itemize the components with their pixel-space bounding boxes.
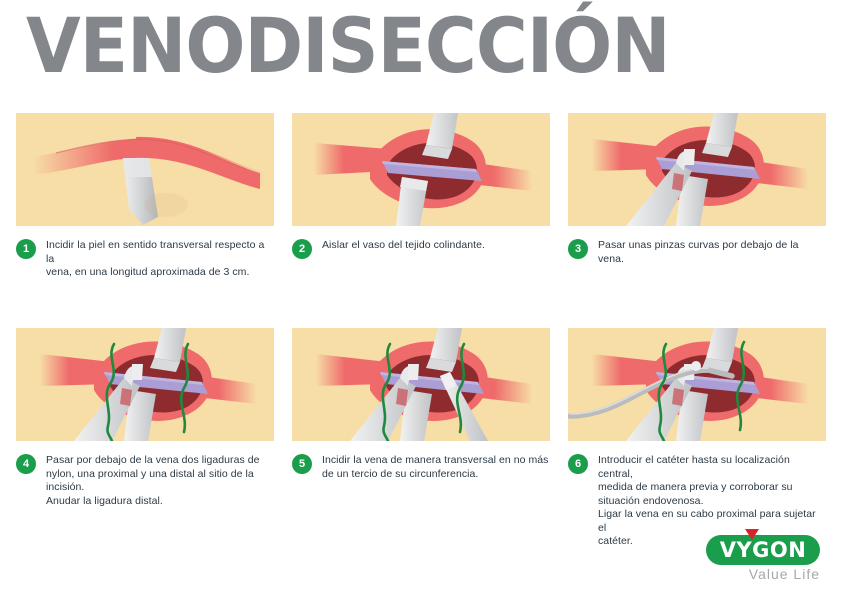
illustration-panel-6: [568, 328, 826, 441]
step-caption-1: 1 Incidir la piel en sentido transversal…: [16, 239, 274, 280]
page-title: VENODISECCIÓN: [26, 6, 670, 86]
catheter-hub: [691, 361, 701, 371]
step-number-badge-2: 2: [292, 239, 312, 259]
step-caption-2: 2 Aislar el vaso del tejido colindante.: [292, 239, 550, 267]
step-number-badge-4: 4: [16, 454, 36, 474]
forceps-jaw: [408, 364, 419, 380]
step-card-2: 2 Aislar el vaso del tejido colindante.: [292, 113, 550, 267]
caption-line: nylon, una proximal y una distal al siti…: [46, 468, 274, 482]
illustration-panel-2: [292, 113, 550, 226]
caption-line: de un tercio de su circunferencia.: [322, 468, 550, 482]
step-text-5: Incidir la vena de manera transversal en…: [322, 454, 550, 481]
step-text-3: Pasar unas pinzas curvas por debajo de l…: [598, 239, 826, 266]
caption-line: vena, en una longitud aproximada de 3 cm…: [46, 266, 274, 280]
vygon-logo: VYGON Value Life: [706, 529, 826, 587]
step-card-3: 3 Pasar unas pinzas curvas por debajo de…: [568, 113, 826, 267]
step-number-badge-5: 5: [292, 454, 312, 474]
caption-line: Pasar por debajo de la vena dos ligadura…: [46, 454, 274, 468]
illustration-panel-5: [292, 328, 550, 441]
logo-tagline: Value Life: [706, 566, 824, 582]
logo-brand-text: VYGON: [706, 535, 820, 565]
step-caption-5: 5 Incidir la vena de manera transversal …: [292, 454, 550, 482]
caption-line: medida de manera previa y corroborar su: [598, 481, 826, 495]
step-card-6: 6 Introducir el catéter hasta su localiz…: [568, 328, 826, 549]
step-caption-3: 3 Pasar unas pinzas curvas por debajo de…: [568, 239, 826, 267]
caption-line: incisión.: [46, 481, 274, 495]
step-text-4: Pasar por debajo de la vena dos ligadura…: [46, 454, 274, 508]
step-card-4: 4 Pasar por debajo de la vena dos ligadu…: [16, 328, 274, 508]
red-triangle-icon: [745, 529, 759, 540]
shadow: [144, 193, 188, 217]
forceps-shadow-tissue: [396, 388, 408, 406]
caption-line: Incidir la vena de manera transversal en…: [322, 454, 550, 468]
forceps-jaw: [684, 149, 695, 165]
step-card-1: 1 Incidir la piel en sentido transversal…: [16, 113, 274, 280]
step-card-5: 5 Incidir la vena de manera transversal …: [292, 328, 550, 482]
step-text-1: Incidir la piel en sentido transversal r…: [46, 239, 274, 280]
step-text-2: Aislar el vaso del tejido colindante.: [322, 239, 550, 253]
caption-line: Introducir el catéter hasta su localizac…: [598, 454, 826, 481]
forceps-shadow-tissue: [672, 173, 684, 191]
caption-line: Incidir la piel en sentido transversal r…: [46, 239, 274, 266]
forceps-shadow-tissue: [672, 388, 684, 406]
caption-line: situación endovenosa.: [598, 495, 826, 509]
caption-line: Anudar la ligadura distal.: [46, 495, 274, 509]
illustration-panel-4: [16, 328, 274, 441]
forceps-shadow-tissue: [120, 388, 132, 406]
step-number-badge-6: 6: [568, 454, 588, 474]
step-caption-4: 4 Pasar por debajo de la vena dos ligadu…: [16, 454, 274, 508]
step-number-badge-1: 1: [16, 239, 36, 259]
forceps-jaw: [132, 364, 143, 380]
scalpel-highlight: [123, 158, 152, 177]
caption-line: Pasar unas pinzas curvas por debajo de l…: [598, 239, 826, 266]
caption-line: Aislar el vaso del tejido colindante.: [322, 239, 550, 253]
step-number-badge-3: 3: [568, 239, 588, 259]
illustration-panel-3: [568, 113, 826, 226]
illustration-panel-1: [16, 113, 274, 226]
